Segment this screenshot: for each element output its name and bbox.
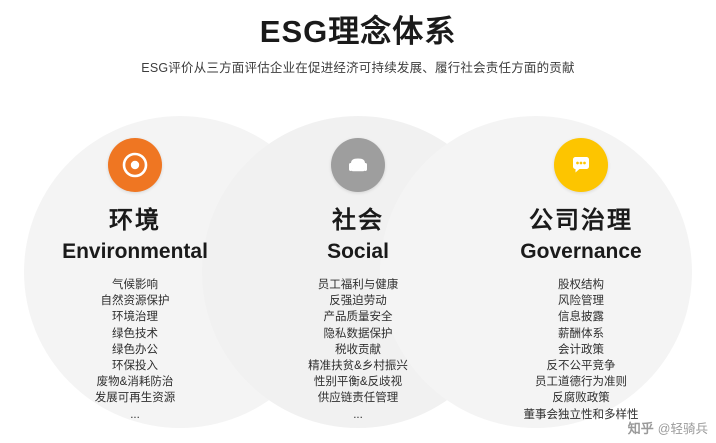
- zhihu-logo-icon: 知乎: [628, 418, 654, 437]
- pillar-name-cn: 公司治理: [461, 207, 701, 236]
- list-item: 废物&消耗防治: [15, 374, 255, 390]
- pillar-name-cn: 环境: [15, 207, 255, 236]
- pillar-item-list: 员工福利与健康 反强迫劳动 产品质量安全 隐私数据保护 税收贡献 精准扶贫&乡村…: [238, 277, 478, 423]
- list-item: 绿色办公: [15, 342, 255, 358]
- chat-bubble-icon: [554, 138, 608, 192]
- pillar-name-en: Environmental: [15, 239, 255, 264]
- pillar-social: 社会 Social 员工福利与健康 反强迫劳动 产品质量安全 隐私数据保护 税收…: [238, 110, 478, 423]
- watermark-user: @轻骑兵: [658, 418, 708, 437]
- pillar-name-cn: 社会: [238, 207, 478, 236]
- pillar-name-en: Governance: [461, 239, 701, 264]
- list-item: 会计政策: [461, 342, 701, 358]
- list-item: 信息披露: [461, 309, 701, 325]
- list-item: 反腐败政策: [461, 390, 701, 406]
- list-item: 环保投入: [15, 358, 255, 374]
- pillar-environment: 环境 Environmental 气候影响 自然资源保护 环境治理 绿色技术 绿…: [15, 110, 255, 423]
- esg-diagram: ESG理念体系 ESG评价从三方面评估企业在促进经济可持续发展、履行社会责任方面…: [0, 0, 716, 443]
- list-item: 气候影响: [15, 277, 255, 293]
- list-item: 股权结构: [461, 277, 701, 293]
- page-subtitle: ESG评价从三方面评估企业在促进经济可持续发展、履行社会责任方面的贡献: [0, 57, 716, 76]
- list-item: ...: [238, 407, 478, 423]
- list-item: 环境治理: [15, 309, 255, 325]
- list-item: 员工福利与健康: [238, 277, 478, 293]
- target-circle-icon: [108, 138, 162, 192]
- pillar-governance: 公司治理 Governance 股权结构 风险管理 信息披露 薪酬体系 会计政策…: [461, 110, 701, 423]
- list-item: ...: [15, 407, 255, 423]
- list-item: 产品质量安全: [238, 309, 478, 325]
- pillar-name-en: Social: [238, 239, 478, 264]
- list-item: 绿色技术: [15, 326, 255, 342]
- pillar-item-list: 气候影响 自然资源保护 环境治理 绿色技术 绿色办公 环保投入 废物&消耗防治 …: [15, 277, 255, 423]
- list-item: 税收贡献: [238, 342, 478, 358]
- list-item: 精准扶贫&乡村振兴: [238, 358, 478, 374]
- list-item: 隐私数据保护: [238, 326, 478, 342]
- list-item: 员工道德行为准则: [461, 374, 701, 390]
- venn-diagram: 环境 Environmental 气候影响 自然资源保护 环境治理 绿色技术 绿…: [0, 110, 716, 443]
- list-item: 反强迫劳动: [238, 293, 478, 309]
- armchair-icon: [331, 138, 385, 192]
- list-item: 薪酬体系: [461, 326, 701, 342]
- list-item: 风险管理: [461, 293, 701, 309]
- list-item: 自然资源保护: [15, 293, 255, 309]
- list-item: 供应链责任管理: [238, 390, 478, 406]
- pillar-item-list: 股权结构 风险管理 信息披露 薪酬体系 会计政策 反不公平竞争 员工道德行为准则…: [461, 277, 701, 423]
- list-item: 反不公平竞争: [461, 358, 701, 374]
- list-item: 性别平衡&反歧视: [238, 374, 478, 390]
- list-item: 发展可再生资源: [15, 390, 255, 406]
- page-title: ESG理念体系: [0, 6, 716, 51]
- watermark: 知乎 @轻骑兵: [628, 418, 708, 437]
